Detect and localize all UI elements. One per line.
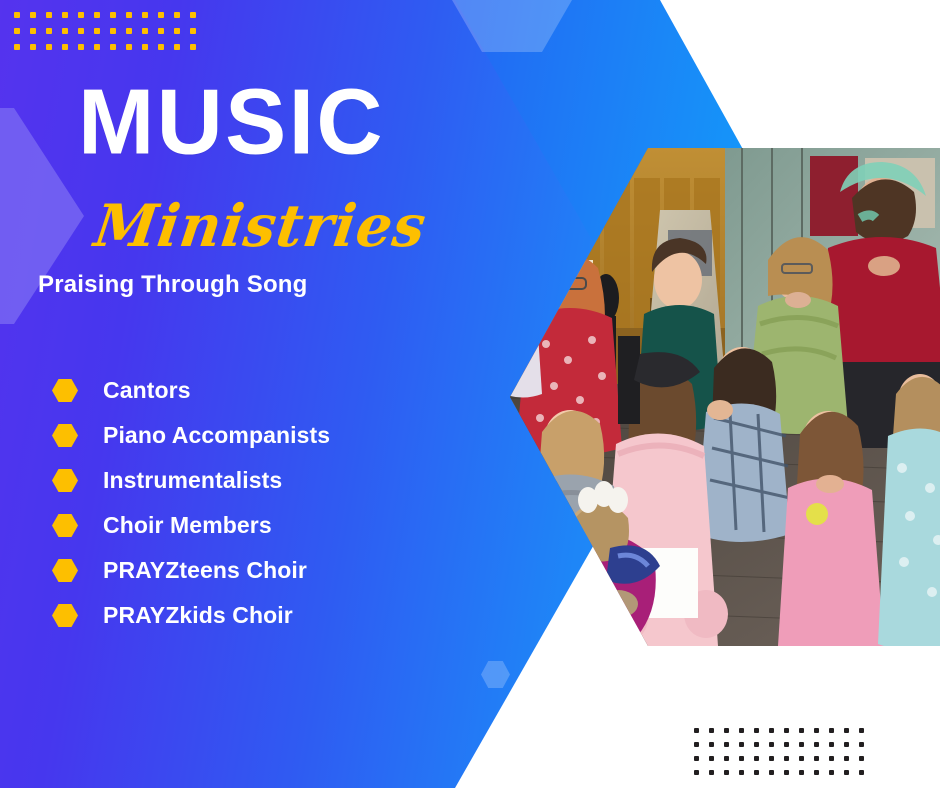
dot [190,28,196,34]
ministry-roles-list: Cantors Piano Accompanists Instrumentali… [52,368,432,638]
dot [784,728,789,733]
dot [814,742,819,747]
dot [844,756,849,761]
dot [829,742,834,747]
dot [62,12,68,18]
dot [799,770,804,775]
dot [46,44,52,50]
dot [709,742,714,747]
dot [94,28,100,34]
dot [829,728,834,733]
page-subtitle-script: Ministries [90,192,430,261]
hexagon-bullet-icon [52,604,78,627]
dot [78,12,84,18]
dot [859,728,864,733]
dot [110,12,116,18]
list-item: Piano Accompanists [52,413,432,458]
dot [709,728,714,733]
dot [724,756,729,761]
dot [30,12,36,18]
dot [126,44,132,50]
dot [814,756,819,761]
dot [829,770,834,775]
dot [799,756,804,761]
dot [859,742,864,747]
list-item-label: PRAYZteens Choir [103,557,307,584]
dot [754,770,759,775]
dot [94,44,100,50]
dot [784,742,789,747]
list-item-label: PRAYZkids Choir [103,602,293,629]
list-item-label: Choir Members [103,512,272,539]
dot [799,742,804,747]
dot [110,44,116,50]
page-title: MUSIC [78,79,385,165]
dot [694,728,699,733]
dot [844,770,849,775]
list-item-label: Instrumentalists [103,467,282,494]
dot [724,728,729,733]
dot [769,756,774,761]
dot [14,28,20,34]
dot [739,756,744,761]
hexagon-bullet-icon [52,559,78,582]
list-item: Instrumentalists [52,458,432,503]
dot [844,742,849,747]
list-item: PRAYZteens Choir [52,548,432,593]
dot [859,756,864,761]
dot [829,756,834,761]
dot [46,28,52,34]
dot [739,742,744,747]
dot [190,44,196,50]
dot [14,44,20,50]
dot [844,728,849,733]
list-item-label: Cantors [103,377,191,404]
hexagon-bullet-icon [52,424,78,447]
dot [126,12,132,18]
dot [709,756,714,761]
hexagon-bullet-icon [52,379,78,402]
dot [784,756,789,761]
dot [754,728,759,733]
dot [126,28,132,34]
dot [190,12,196,18]
dot [30,28,36,34]
flyer-canvas: MUSIC Ministries Praising Through Song C… [0,0,940,788]
dot [62,28,68,34]
dot [739,770,744,775]
dot [724,742,729,747]
list-item-label: Piano Accompanists [103,422,330,449]
dot [14,12,20,18]
hexagon-bullet-icon [52,469,78,492]
dot [110,28,116,34]
dot [814,728,819,733]
dot [784,770,789,775]
dot [142,44,148,50]
dot [174,28,180,34]
dot [739,728,744,733]
dot-grid-icon-bottom [694,728,864,775]
dot [142,28,148,34]
dot [814,770,819,775]
tagline: Praising Through Song [38,271,308,299]
dot [769,770,774,775]
dot [694,756,699,761]
hexagon-bullet-icon [52,514,78,537]
dot [62,44,68,50]
dot [709,770,714,775]
list-item: Cantors [52,368,432,413]
dot [94,12,100,18]
dot [78,44,84,50]
dot [754,756,759,761]
dot [78,28,84,34]
list-item: Choir Members [52,503,432,548]
dot [46,12,52,18]
dot [158,44,164,50]
dot [769,728,774,733]
dot [158,28,164,34]
dot-grid-icon-top [14,12,196,50]
dot [694,742,699,747]
hexagon-shape-icon-large [513,676,583,738]
dot [30,44,36,50]
dot [859,770,864,775]
dot [769,742,774,747]
dot [694,770,699,775]
dot [174,44,180,50]
dot [754,742,759,747]
dot [174,12,180,18]
list-item: PRAYZkids Choir [52,593,432,638]
dot [142,12,148,18]
dot [724,770,729,775]
dot [158,12,164,18]
dot [799,728,804,733]
